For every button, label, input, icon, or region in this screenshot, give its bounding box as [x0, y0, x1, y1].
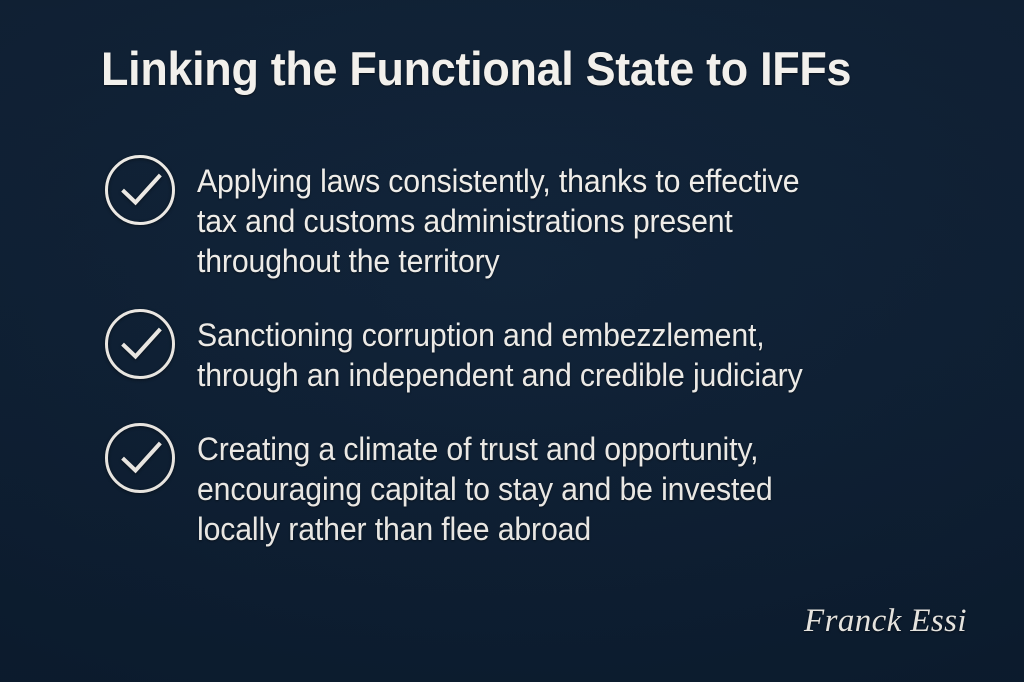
bullet-item: Creating a climate of trust and opportun… [104, 422, 964, 549]
bullet-text: Applying laws consistently, thanks to ef… [197, 154, 922, 281]
author-signature: Franck Essi [804, 603, 967, 640]
bullet-item: Sanctioning corruption and embezzlement,… [104, 308, 964, 395]
check-circle-icon [104, 422, 176, 494]
bullet-text: Sanctioning corruption and embezzlement,… [197, 308, 922, 395]
bullet-list: Applying laws consistently, thanks to ef… [104, 154, 964, 549]
bullet-item: Applying laws consistently, thanks to ef… [104, 154, 964, 281]
check-circle-icon [104, 308, 176, 380]
check-circle-icon [104, 154, 176, 226]
presentation-slide: Linking the Functional State to IFFs App… [0, 0, 1024, 682]
bullet-text: Creating a climate of trust and opportun… [197, 422, 922, 549]
slide-title: Linking the Functional State to IFFs [101, 44, 941, 93]
